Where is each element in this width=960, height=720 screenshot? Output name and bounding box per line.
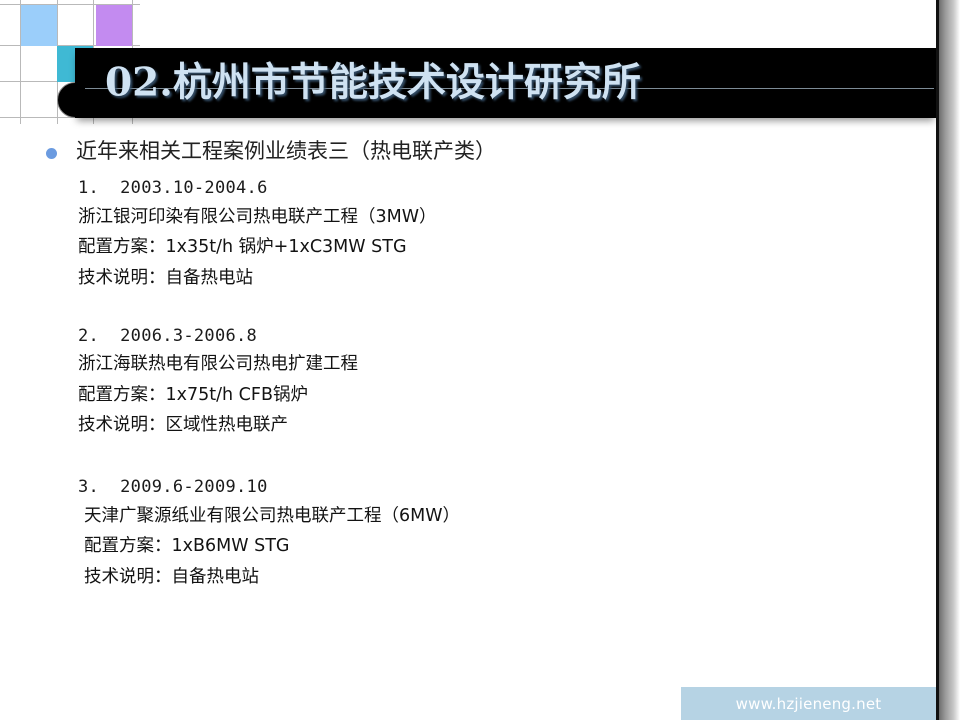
slide-right-shadow xyxy=(939,0,960,720)
case-config: 配置方案：1x35t/h 锅炉+1xC3MW STG xyxy=(78,232,936,263)
case-entry-1: 1. 2003.10-2004.6 浙江银河印染有限公司热电联产工程（3MW） … xyxy=(0,176,936,293)
case-config: 配置方案：1xB6MW STG xyxy=(78,531,936,562)
case-heading: 3. 2009.6-2009.10 xyxy=(78,475,936,501)
page-title: 02.杭州市节能技术设计研究所 xyxy=(105,64,641,103)
case-heading: 2. 2006.3-2006.8 xyxy=(78,324,936,350)
case-note: 技术说明：区域性热电联产 xyxy=(78,410,936,441)
case-project: 浙江银河印染有限公司热电联产工程（3MW） xyxy=(78,202,936,233)
case-heading: 1. 2003.10-2004.6 xyxy=(78,176,936,202)
slide-title-bar: 02.杭州市节能技术设计研究所 xyxy=(75,48,936,118)
decor-square-light-blue xyxy=(21,5,57,46)
case-project: 天津广聚源纸业有限公司热电联产工程（6MW） xyxy=(78,501,936,532)
bullet-dot-icon xyxy=(46,148,57,159)
lead-text: 近年来相关工程案例业绩表三（热电联产类） xyxy=(76,138,496,164)
lead-bullet-row: 近年来相关工程案例业绩表三（热电联产类） xyxy=(0,138,936,164)
case-entry-2: 2. 2006.3-2006.8 浙江海联热电有限公司热电扩建工程 配置方案：1… xyxy=(0,324,936,441)
footer-website: www.hzjieneng.net xyxy=(681,695,936,713)
slide-canvas: 02.杭州市节能技术设计研究所 近年来相关工程案例业绩表三（热电联产类） 1. … xyxy=(0,0,960,720)
case-entry-3: 3. 2009.6-2009.10 天津广聚源纸业有限公司热电联产工程（6MW）… xyxy=(0,475,936,592)
case-note: 技术说明：自备热电站 xyxy=(78,263,936,294)
case-config: 配置方案：1x75t/h CFB锅炉 xyxy=(78,380,936,411)
footer-bar: www.hzjieneng.net xyxy=(681,687,936,720)
decor-square-purple xyxy=(96,5,132,46)
case-note: 技术说明：自备热电站 xyxy=(78,562,936,593)
slide-body: 近年来相关工程案例业绩表三（热电联产类） 1. 2003.10-2004.6 浙… xyxy=(0,138,936,592)
case-project: 浙江海联热电有限公司热电扩建工程 xyxy=(78,349,936,380)
